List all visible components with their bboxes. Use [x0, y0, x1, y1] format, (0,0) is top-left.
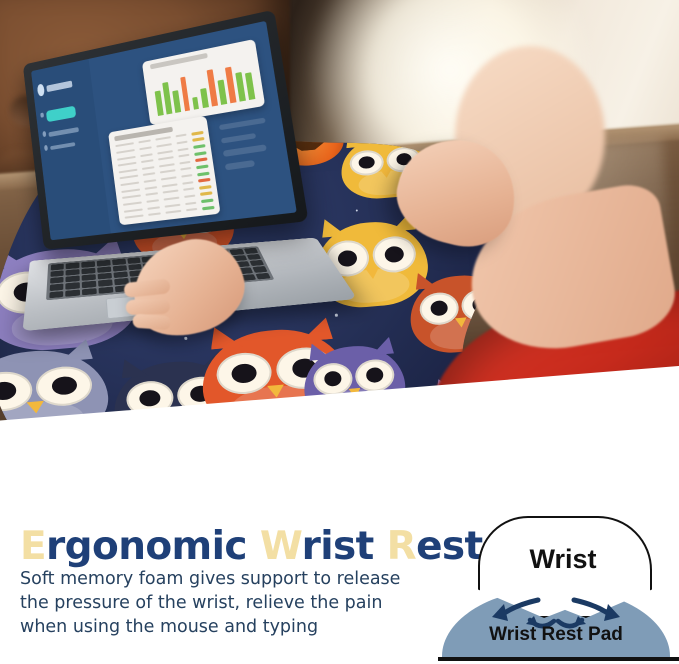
keyboard-key — [128, 264, 142, 271]
table-cell — [147, 206, 160, 210]
keyboard-key — [244, 248, 259, 254]
keyboard-key — [97, 266, 111, 273]
keyboard-key — [252, 266, 268, 273]
table-cell — [158, 156, 174, 160]
keyboard-key — [112, 259, 126, 265]
keyboard-key — [66, 282, 80, 289]
table-cell — [184, 194, 195, 197]
feature-description: Soft memory foam gives support to releas… — [20, 568, 410, 639]
keyboard-key — [49, 284, 63, 291]
headline-initial-cap: R — [387, 524, 416, 569]
table-cell — [159, 163, 175, 167]
table-cell — [146, 199, 159, 203]
table-cell — [156, 143, 172, 147]
table-cell — [183, 188, 194, 191]
chart-bar — [235, 72, 245, 102]
table-cell — [176, 134, 186, 138]
keyboard-key — [98, 280, 112, 287]
headline-initial-cap: E — [20, 524, 46, 569]
keyboard-key — [98, 287, 113, 294]
owl-eye — [0, 370, 33, 413]
sidebar-icon — [41, 112, 44, 118]
sidebar-icon — [44, 145, 47, 151]
star-decoration — [184, 337, 187, 340]
table-cell — [181, 167, 192, 170]
status-badge — [201, 199, 214, 204]
keyboard-key — [50, 270, 64, 277]
table-cell — [145, 192, 158, 196]
table-cell — [177, 141, 187, 145]
keyboard-key — [66, 276, 80, 283]
sidebar-icon — [43, 131, 46, 137]
star-decoration — [356, 209, 358, 211]
keyboard-key — [66, 262, 80, 269]
owl-eye — [348, 149, 385, 178]
owl-ear-tuft — [400, 128, 421, 143]
status-badge — [191, 131, 204, 136]
status-badge — [198, 178, 211, 183]
owl-ear-tuft — [345, 133, 366, 148]
table-cell — [139, 146, 152, 150]
keyboard-key — [82, 274, 96, 281]
table-cell — [125, 215, 143, 219]
sidebar-item — [48, 127, 79, 137]
table-cell — [163, 190, 179, 194]
diagram-wrist-label: Wrist — [478, 544, 648, 575]
table-cell — [141, 166, 154, 170]
table-cell — [143, 179, 156, 183]
dashboard-logo-icon — [37, 84, 45, 97]
keyboard-key — [66, 289, 81, 296]
table-cell — [140, 153, 153, 157]
keyboard-key — [51, 264, 65, 271]
chart-bar — [163, 82, 173, 114]
status-badge — [200, 192, 213, 197]
status-badge — [202, 205, 215, 210]
keyboard-key — [66, 269, 80, 276]
chart-bar — [180, 77, 190, 111]
table-cell — [141, 159, 154, 163]
headline-initial-cap: W — [260, 524, 302, 569]
table-cell — [164, 196, 180, 200]
keyboard-key — [249, 260, 264, 266]
table-cell — [179, 154, 190, 158]
chart-bar — [155, 90, 164, 115]
star-decoration — [390, 110, 392, 112]
diagram-baseline — [438, 657, 679, 661]
diagram-pad-label: Wrist Rest Pad — [442, 624, 670, 646]
finger — [126, 299, 170, 316]
table-cell — [162, 183, 178, 187]
dashboard-text-line — [225, 160, 255, 170]
status-badge — [194, 151, 207, 156]
owl-eye — [418, 291, 459, 326]
sidebar-item — [50, 142, 76, 151]
table-cell — [185, 201, 196, 204]
chart-bar — [218, 80, 227, 105]
star-decoration — [7, 200, 8, 201]
keyboard-key — [82, 261, 96, 267]
keyboard-key — [255, 273, 271, 280]
keyboard-key — [50, 277, 64, 284]
table-cell — [144, 186, 157, 190]
table-cell — [119, 169, 137, 174]
status-badge — [196, 164, 209, 169]
keyboard-key — [98, 273, 112, 280]
dashboard-text-line — [223, 145, 266, 157]
chart-bar — [245, 72, 255, 99]
chart-bar — [173, 90, 182, 113]
table-cell — [182, 174, 193, 177]
status-badge — [193, 144, 206, 149]
table-cell — [161, 176, 177, 180]
status-badge — [199, 185, 212, 190]
table-cell — [155, 136, 171, 141]
table-cell — [165, 210, 181, 214]
star-decoration — [8, 224, 9, 225]
table-cell — [183, 181, 194, 184]
keyboard-key — [113, 272, 127, 279]
table-cell — [164, 203, 180, 207]
table-cell — [121, 188, 139, 192]
table-cell — [157, 150, 173, 154]
laptop-lid — [23, 10, 309, 250]
keyboard-key — [49, 291, 64, 298]
product-marketing-image: Ergonomic Wrist Rest Soft memory foam gi… — [0, 0, 679, 664]
page-title: Ergonomic Wrist Rest — [20, 524, 483, 569]
owl-eye — [214, 350, 273, 396]
laptop-screen — [31, 21, 297, 240]
dashboard-chart-card — [142, 38, 265, 125]
dashboard-table-card — [108, 116, 220, 225]
table-cell — [120, 175, 138, 180]
wrist-support-diagram: Wrist Wrist Rest Pad — [420, 506, 679, 664]
dashboard-active-menu-button — [45, 105, 75, 122]
chart-bar — [200, 88, 208, 107]
feature-text-panel: Ergonomic Wrist Rest Soft memory foam gi… — [0, 500, 679, 664]
table-cell — [178, 147, 189, 151]
chart-bar — [207, 70, 218, 106]
headline-text: rgonomic — [46, 524, 260, 569]
chart-bar — [192, 96, 199, 109]
table-cell — [142, 173, 155, 177]
keyboard-key — [82, 268, 96, 275]
status-badge — [192, 137, 205, 142]
photo-bottom-mask — [240, 440, 679, 500]
table-cell — [180, 161, 191, 165]
keyboard-key — [127, 257, 141, 263]
star-decoration — [433, 119, 435, 121]
table-cell — [123, 201, 141, 205]
table-cell — [121, 182, 139, 186]
table-cell — [148, 213, 161, 217]
status-badge — [197, 171, 210, 176]
dashboard-text-line — [221, 133, 256, 144]
keyboard-key — [82, 281, 96, 288]
lifestyle-photo — [0, 0, 679, 500]
dashboard-text-line — [219, 118, 266, 131]
table-cell — [124, 208, 142, 212]
table-cell — [160, 170, 176, 174]
table-cell — [122, 195, 140, 199]
dashboard-brand-text — [46, 81, 72, 92]
dashboard-main — [89, 21, 297, 234]
table-cell — [186, 208, 197, 211]
keyboard-key — [82, 288, 97, 295]
bar-chart — [153, 57, 256, 115]
table-cell — [138, 140, 151, 144]
keyboard-key — [113, 265, 127, 272]
finger — [132, 314, 171, 331]
headline-text: rist — [302, 524, 387, 569]
keyboard-key — [97, 260, 111, 266]
status-badge — [195, 158, 208, 163]
